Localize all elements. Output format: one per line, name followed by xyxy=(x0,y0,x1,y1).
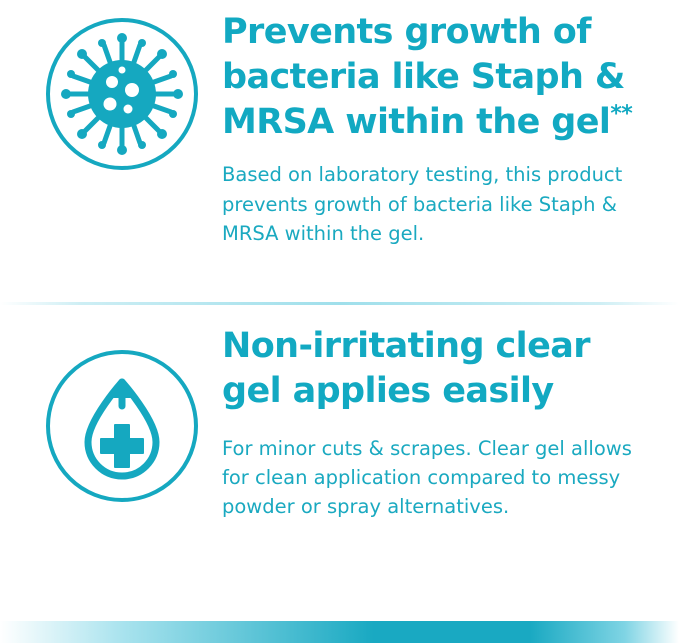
bottom-accent-bar xyxy=(0,621,679,643)
feature-headline: Non-irritating clear gel applies easily xyxy=(222,324,622,414)
feature-icon-container xyxy=(22,322,222,506)
feature-body: Based on laboratory testing, this produc… xyxy=(222,160,642,248)
feature-text-container: Non-irritating clear gel applies easily … xyxy=(222,322,657,521)
feature-icon-container xyxy=(22,8,222,174)
feature-headline-text: Non-irritating clear gel applies easily xyxy=(222,326,590,411)
droplet-with-medical-cross-icon xyxy=(42,346,202,506)
section-divider xyxy=(0,302,679,305)
feature-panel: Prevents growth of bacteria like Staph &… xyxy=(0,0,679,643)
feature-headline: Prevents growth of bacteria like Staph &… xyxy=(222,10,642,144)
feature-headline-superscript: ** xyxy=(610,101,632,126)
feature-body: For minor cuts & scrapes. Clear gel allo… xyxy=(222,434,642,522)
feature-block-clear-gel: Non-irritating clear gel applies easily … xyxy=(0,300,679,600)
feature-text-container: Prevents growth of bacteria like Staph &… xyxy=(222,8,657,248)
feature-headline-text: Prevents growth of bacteria like Staph &… xyxy=(222,12,625,142)
feature-block-antibacterial: Prevents growth of bacteria like Staph &… xyxy=(0,0,679,300)
virus-germ-icon xyxy=(42,14,202,174)
